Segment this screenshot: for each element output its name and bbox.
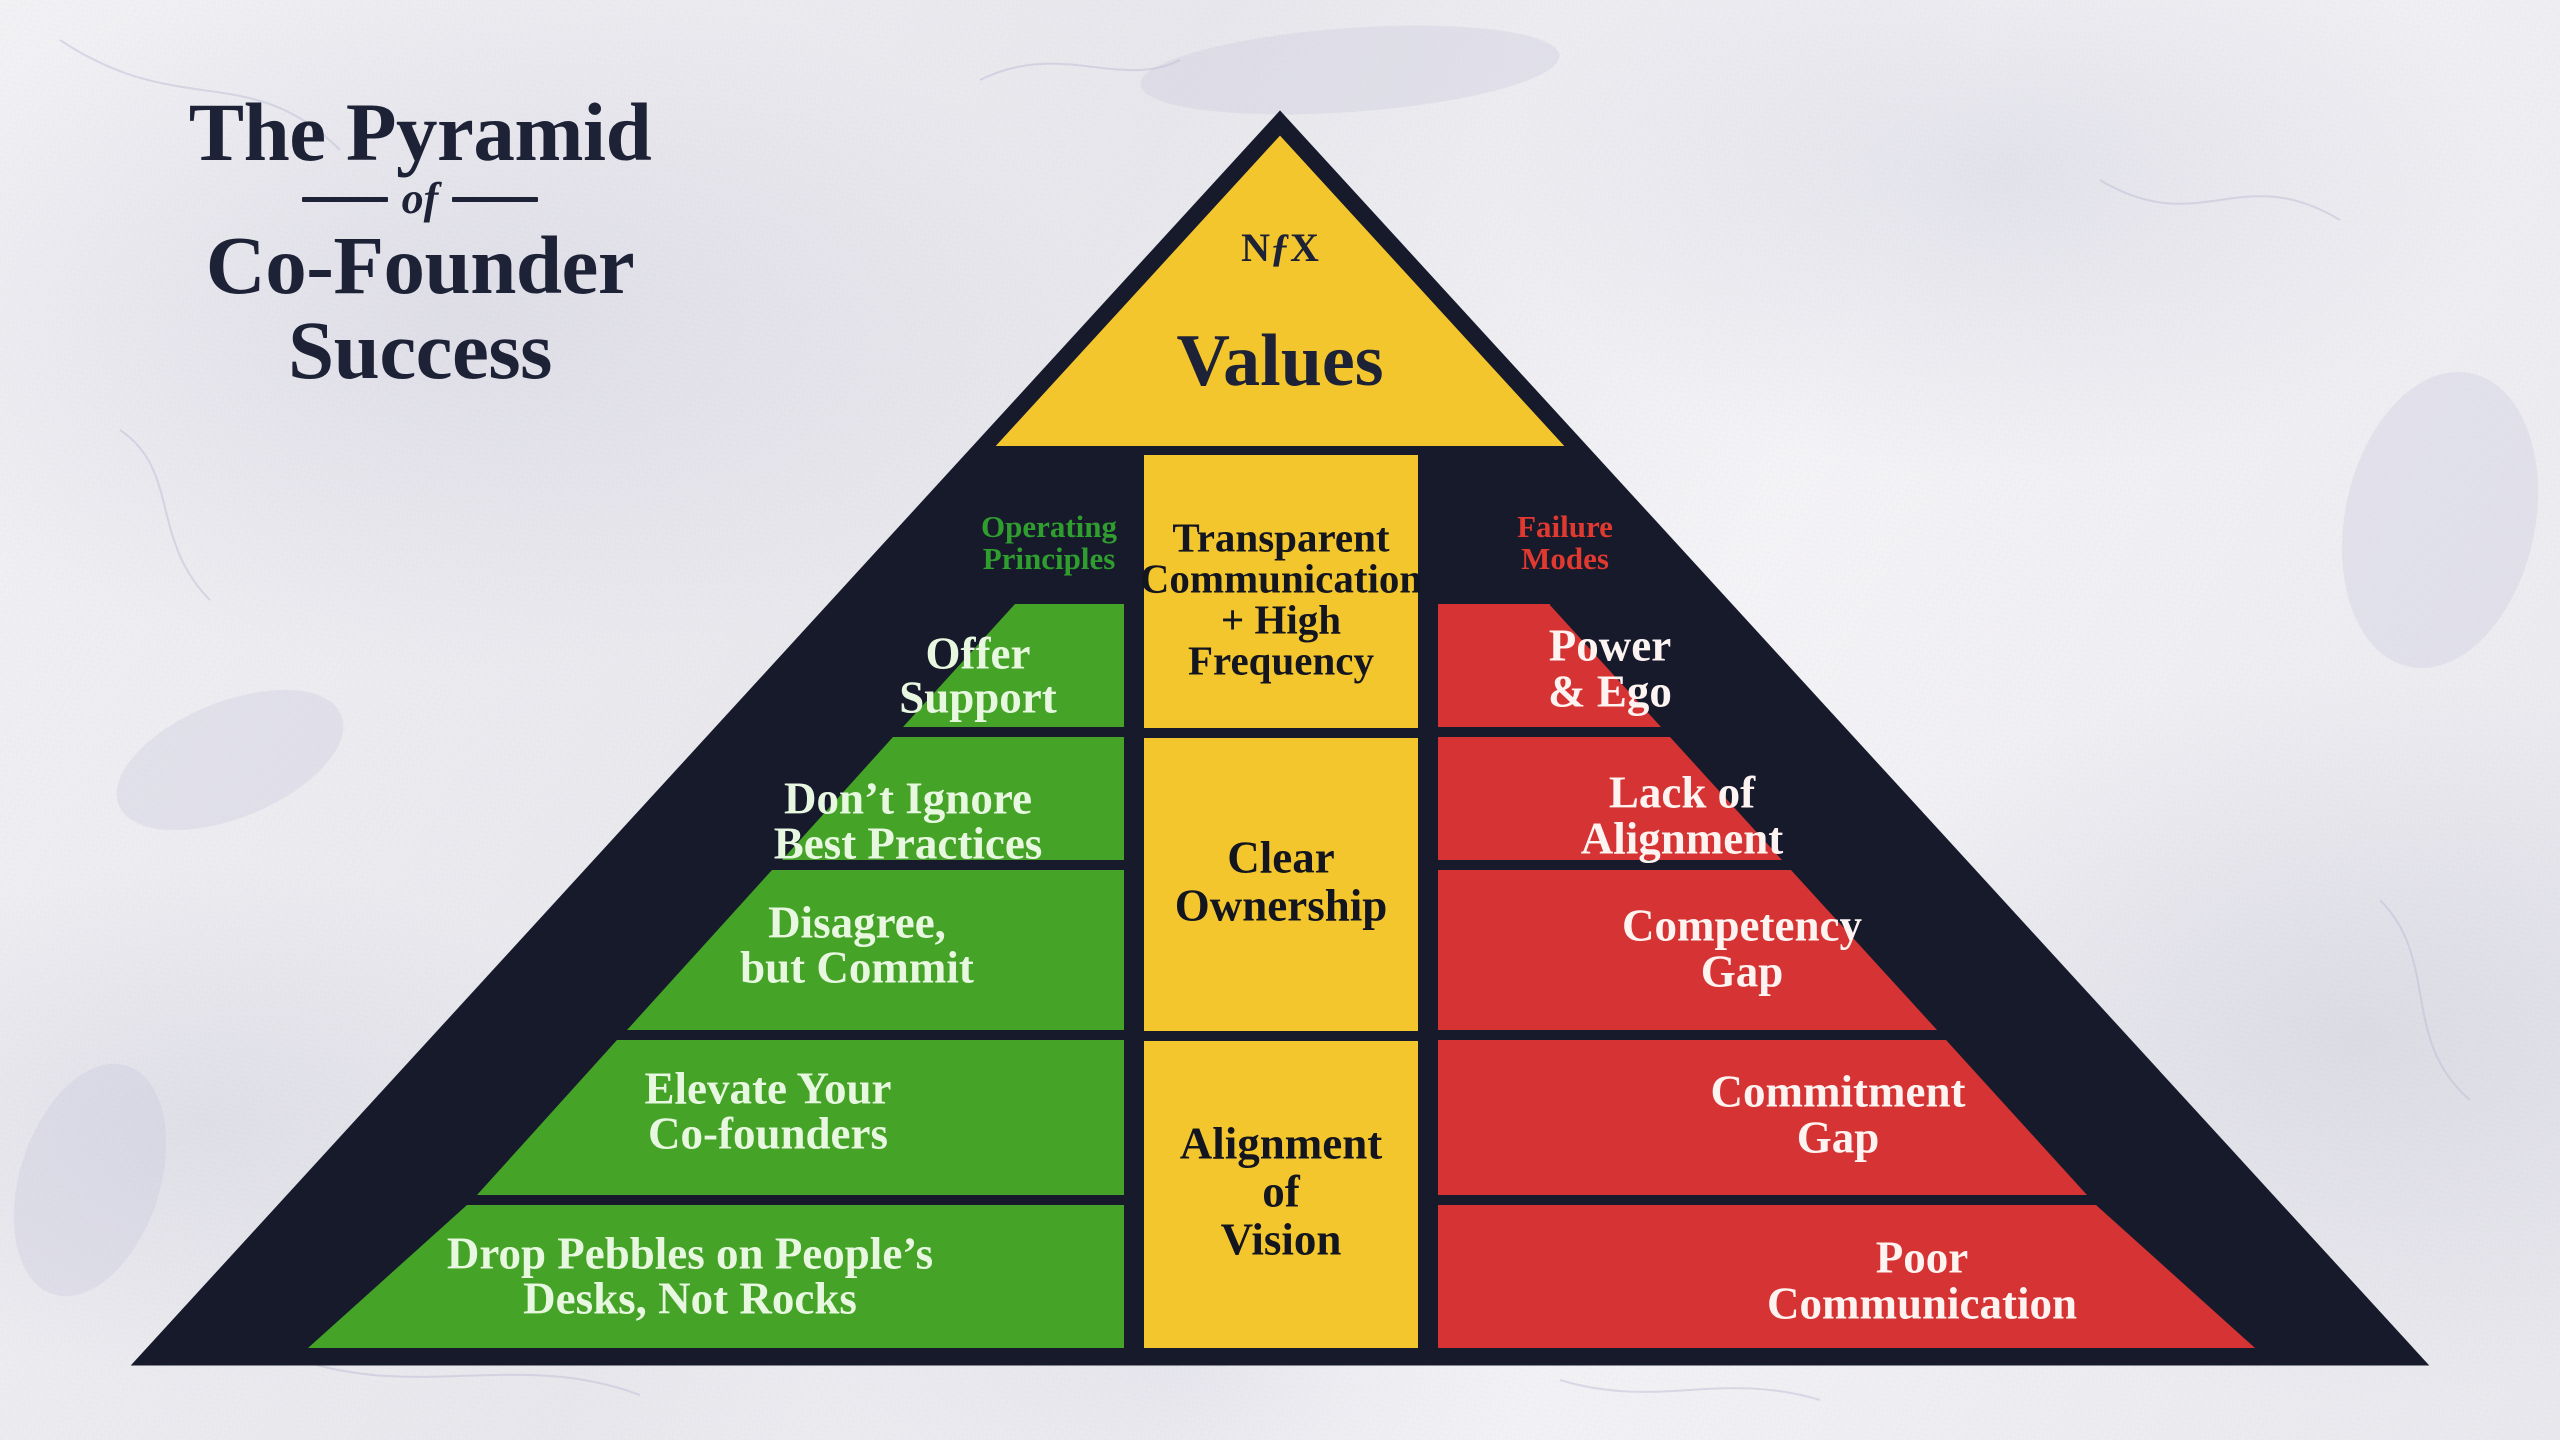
fm-1-line-1: Power [1549, 620, 1671, 670]
value-1-line-4: Frequency [1188, 637, 1375, 683]
fm-3-line-2: Gap [1701, 946, 1784, 996]
fm-5-line-1: Poor [1876, 1232, 1968, 1282]
fm-cell-1-label: Power & Ego [1548, 620, 1672, 716]
value-2-line-1: Clear [1227, 832, 1334, 882]
fm-cell-2-label: Lack of Alignment [1581, 767, 1784, 863]
fm-4-line-1: Commitment [1711, 1066, 1966, 1116]
value-1-line-3: + High [1221, 596, 1341, 642]
op-1-line-1: Offer [926, 628, 1031, 678]
op-cell-4-label: Elevate Your Co-founders [644, 1063, 891, 1158]
op-2-line-2: Best Practices [774, 818, 1043, 868]
fm-3-line-1: Competency [1622, 900, 1862, 950]
nfx-logo: NƒX [1241, 225, 1319, 270]
fm-2-line-1: Lack of [1609, 767, 1756, 817]
fm-header-line-1: Failure [1517, 509, 1613, 544]
op-header-line-2: Principles [983, 541, 1116, 576]
op-3-line-2: but Commit [740, 942, 974, 992]
values-apex-label: Values [1176, 320, 1383, 402]
fm-2-line-2: Alignment [1581, 813, 1784, 863]
op-1-line-2: Support [899, 672, 1057, 722]
fm-header-line-2: Modes [1521, 541, 1609, 576]
pyramid-diagram: NƒX Values Operating Principles Failure … [0, 0, 2560, 1440]
nfx-logo-x: X [1290, 225, 1319, 270]
value-1-line-2: Communication [1140, 555, 1423, 601]
op-cell-3-label: Disagree, but Commit [740, 897, 974, 992]
op-5-line-1: Drop Pebbles on People’s [447, 1228, 933, 1278]
op-header-line-1: Operating [981, 509, 1118, 544]
svg-text:NƒX: NƒX [1241, 225, 1319, 270]
value-3-line-3: Vision [1221, 1214, 1342, 1264]
value-1-line-1: Transparent [1172, 514, 1390, 560]
op-3-line-1: Disagree, [768, 897, 946, 947]
value-3-line-2: of [1262, 1166, 1301, 1216]
nfx-logo-n: N [1241, 225, 1270, 270]
value-3-line-1: Alignment [1180, 1118, 1383, 1168]
op-4-line-2: Co-founders [648, 1108, 888, 1158]
op-cell-2-label: Don’t Ignore Best Practices [774, 773, 1043, 868]
fm-5-line-2: Communication [1767, 1278, 2077, 1328]
operating-principles-header: Operating Principles [981, 509, 1118, 576]
op-4-line-1: Elevate Your [644, 1063, 891, 1113]
failure-modes-header: Failure Modes [1517, 509, 1613, 576]
fm-4-line-2: Gap [1797, 1112, 1880, 1162]
fm-1-line-2: & Ego [1548, 666, 1672, 716]
op-2-line-1: Don’t Ignore [784, 773, 1032, 823]
nfx-logo-f: ƒ [1270, 225, 1290, 270]
op-5-line-2: Desks, Not Rocks [523, 1273, 857, 1323]
value-2-line-2: Ownership [1175, 880, 1388, 930]
